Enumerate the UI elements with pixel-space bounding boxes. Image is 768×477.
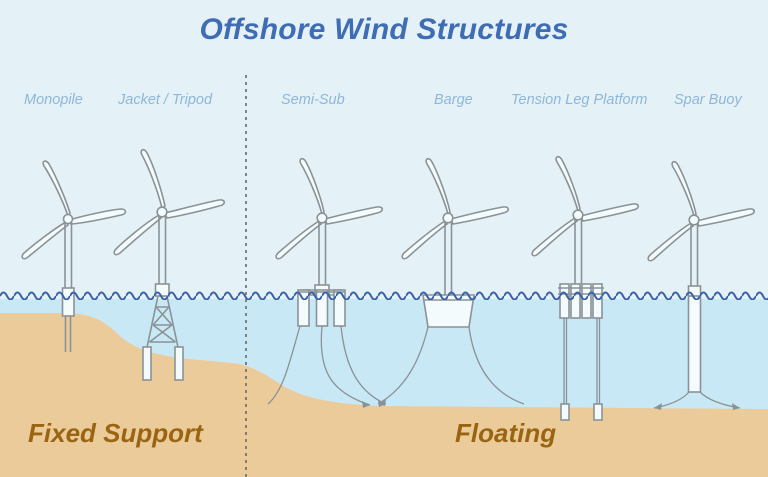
label-barge: Barge [434,92,473,108]
offshore-wind-diagram [0,0,768,477]
waterline-waves [0,291,768,303]
label-semi-sub: Semi-Sub [281,92,345,108]
page-title: Offshore Wind Structures [0,13,768,47]
infographic-canvas: Offshore Wind Structures Monopile Jacket… [0,0,768,477]
label-tlp: Tension Leg Platform [511,92,648,108]
label-jacket: Jacket / Tripod [118,92,212,108]
category-label-fixed-support: Fixed Support [28,418,203,449]
label-spar-buoy: Spar Buoy [674,92,742,108]
label-monopile: Monopile [24,92,83,108]
category-label-floating: Floating [455,418,556,449]
